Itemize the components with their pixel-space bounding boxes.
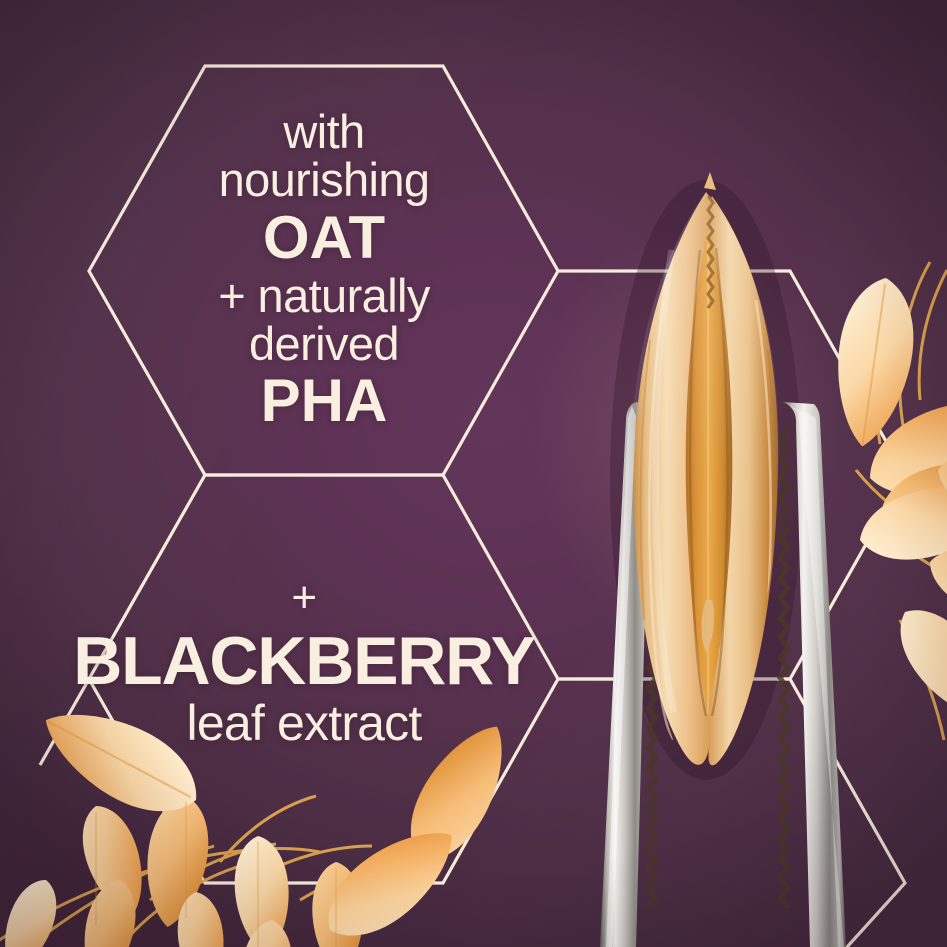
callout-line-derived: derived [108,320,540,368]
callout-line-oat: OAT [108,207,540,269]
callout-line-naturally: + naturally [108,272,540,320]
callout-line-nourishing: nourishing [108,156,540,204]
callout-line-plus: + [68,576,540,620]
callout-line-pha: PHA [108,370,540,432]
callout-line-blackberry: BLACKBERRY [68,626,540,696]
callout-line-leafextract: leaf extract [68,698,540,750]
callout-line-with: with [108,108,540,156]
blackberry-callout-text: + BLACKBERRY leaf extract [68,576,540,750]
oat-pha-callout-text: with nourishing OAT + naturally derived … [108,108,540,432]
product-ingredient-banner: with nourishing OAT + naturally derived … [0,0,947,947]
